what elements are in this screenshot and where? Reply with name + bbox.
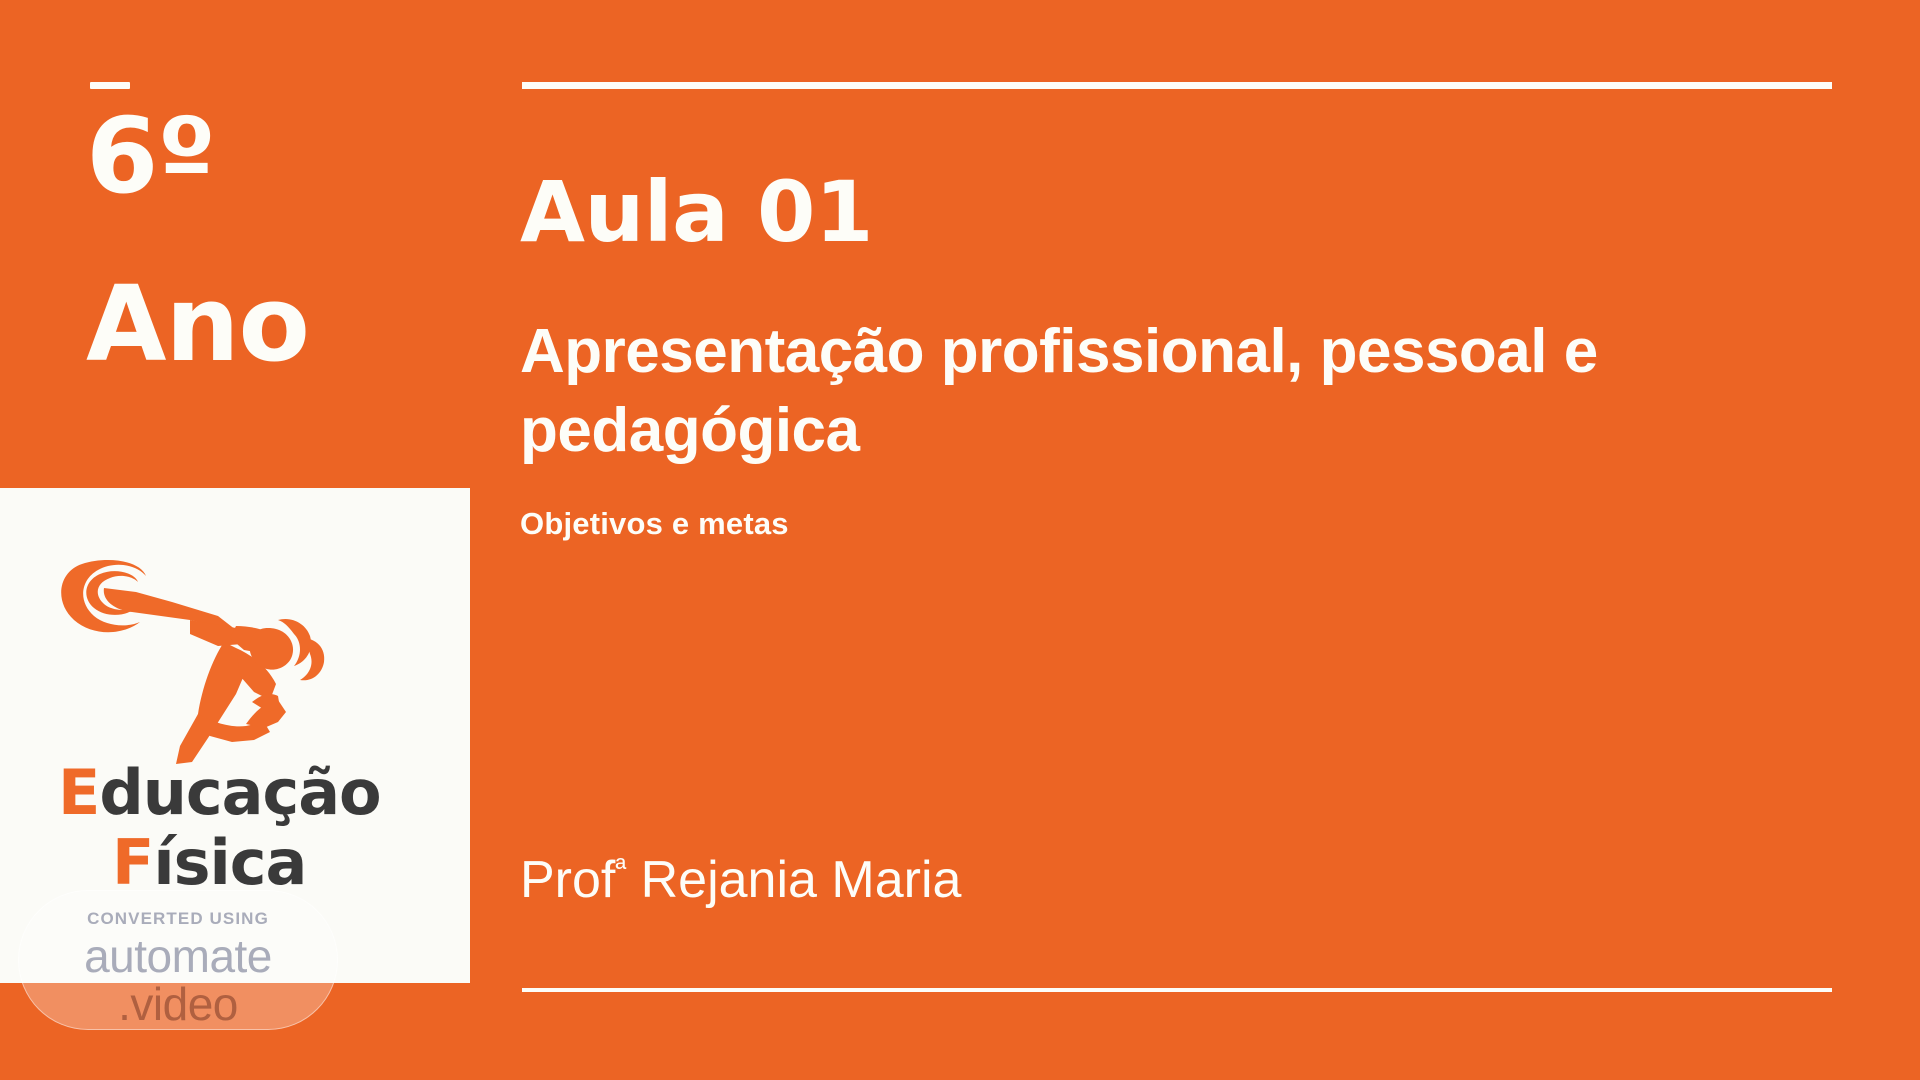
logo-rest-isica: ísica: [153, 826, 306, 899]
logo-text-educacao: Educação: [58, 756, 381, 829]
presentation-slide: 6º Ano: [0, 0, 1920, 1080]
logo-rest-ducacao: ducação: [99, 756, 380, 829]
presenter-name: Profª Rejania Maria: [520, 850, 961, 910]
lesson-title: Apresentação profissional, pessoal e ped…: [520, 312, 1600, 471]
top-divider: [522, 82, 1832, 89]
lesson-number: Aula 01: [520, 170, 873, 254]
discus-thrower-icon: [40, 516, 400, 786]
logo-text-fisica: Física: [112, 826, 306, 899]
grade-number: 6º: [86, 104, 215, 208]
watermark-tld: .video: [19, 977, 337, 1031]
presenter-given-name: Rejania Maria: [626, 851, 961, 909]
presenter-prefix: Prof: [520, 851, 615, 909]
logo-cap-f: F: [112, 826, 153, 899]
left-column: 6º Ano: [0, 0, 470, 1080]
bottom-divider: [522, 988, 1832, 992]
presenter-superscript: ª: [615, 854, 626, 886]
grade-word: Ano: [86, 272, 309, 376]
lesson-subtitle: Objetivos e metas: [520, 506, 789, 542]
dash-accent-icon: [90, 82, 130, 89]
logo-card: Educação Física: [0, 488, 470, 983]
logo-cap-e: E: [58, 756, 99, 829]
